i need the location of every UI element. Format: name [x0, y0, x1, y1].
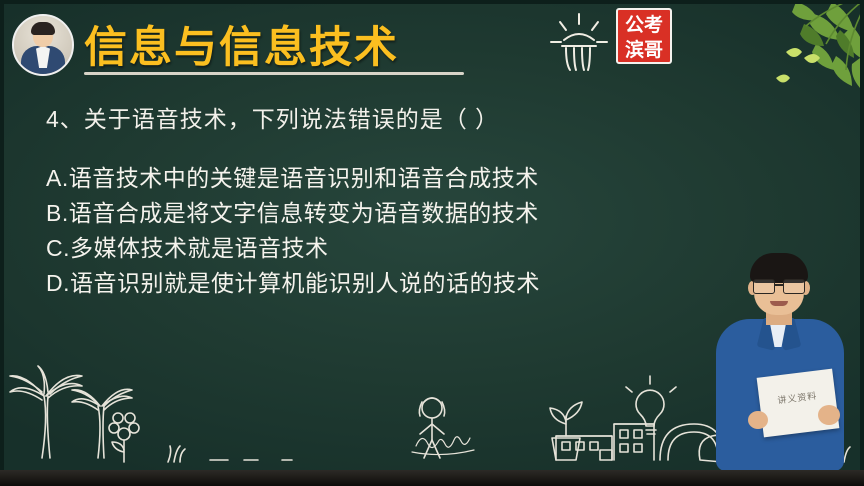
board-ledge — [0, 470, 864, 486]
slide-canvas: 信息与信息技术 公考 滨哥 4、关于语音技术，下列说法错误的是（ ） — [0, 0, 864, 486]
board-frame — [0, 0, 864, 486]
